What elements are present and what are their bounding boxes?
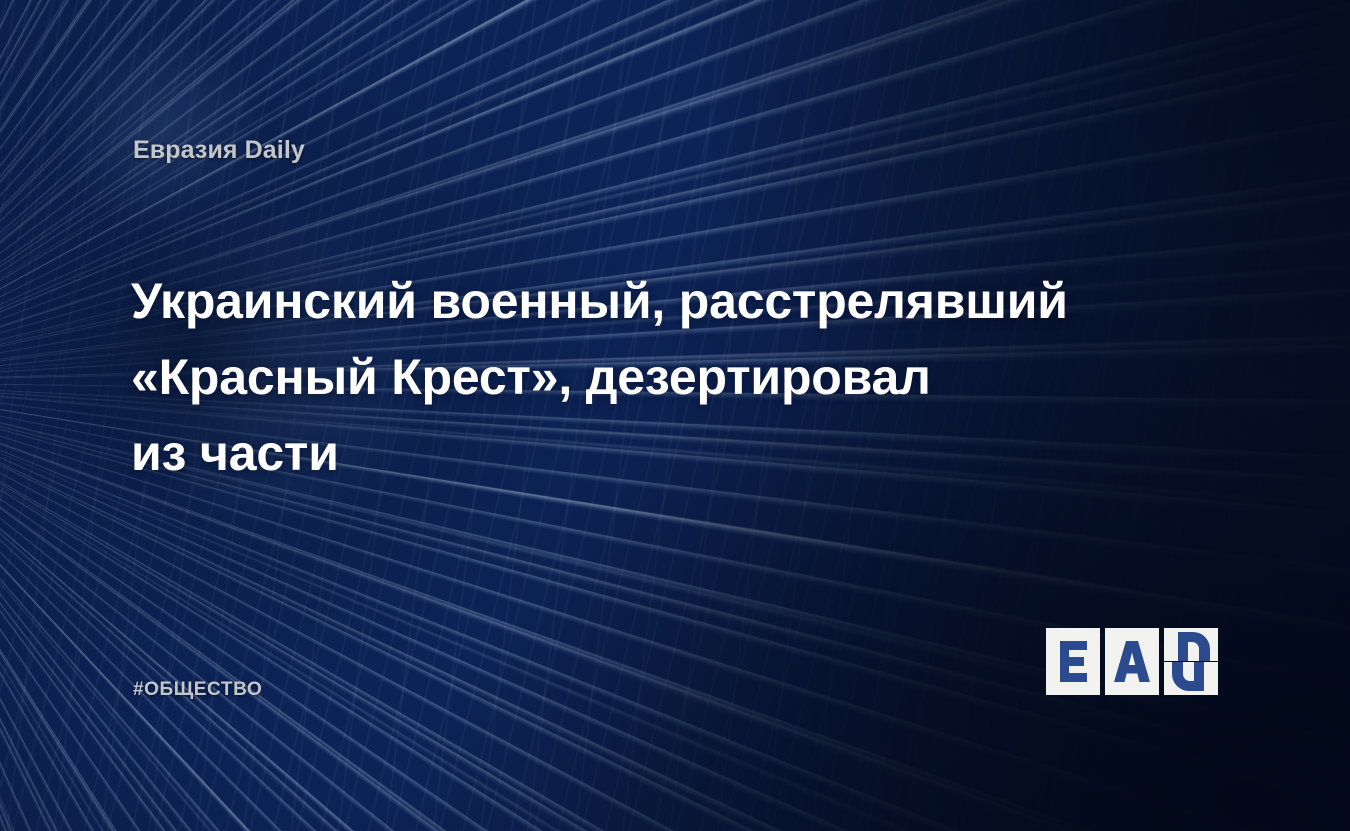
news-card: Евразия Daily Украинский военный, расстр… <box>0 0 1350 831</box>
letter-e-tile <box>1046 628 1100 695</box>
category-hashtag[interactable]: #ОБЩЕСТВО <box>133 679 262 701</box>
page-title: Украинский военный, расстрелявший «Красн… <box>131 263 1191 491</box>
eadaily-logo[interactable] <box>1046 628 1218 695</box>
brand-name: Евразия Daily <box>133 136 305 165</box>
letter-d-split-tile <box>1164 628 1218 695</box>
headline-line-3: из части <box>131 415 1191 491</box>
letter-a-tile <box>1105 628 1159 695</box>
headline-line-2: «Красный Крест», дезертировал <box>131 339 1191 415</box>
headline-line-1: Украинский военный, расстрелявший <box>131 263 1191 339</box>
card-content: Евразия Daily Украинский военный, расстр… <box>0 0 1350 831</box>
